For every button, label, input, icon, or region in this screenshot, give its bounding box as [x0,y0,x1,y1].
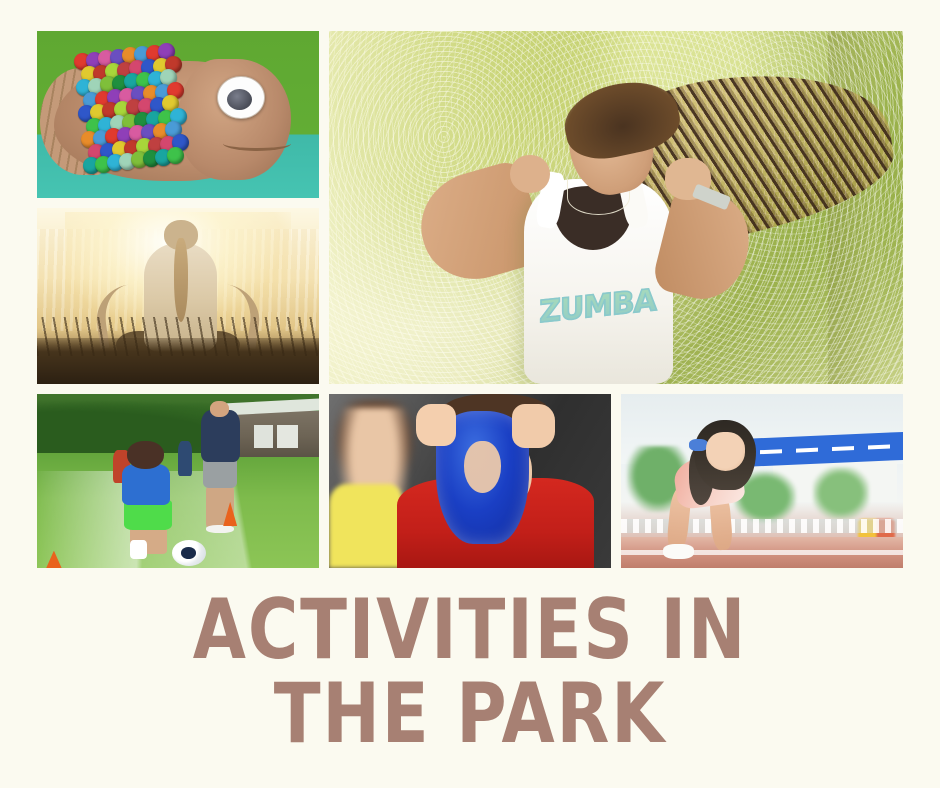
boy-left-hand [416,404,455,446]
player-jersey [122,464,170,506]
soccer-art [37,394,319,568]
coach-jacket [201,410,240,462]
meditation-art [37,208,319,384]
tall-grass [37,317,319,356]
poster: ZUMBA [0,0,940,788]
title-line-2: THE PARK [38,672,903,756]
coach-head [210,401,228,417]
girl-yellow-shirt [329,484,402,568]
dancer-left-fist [510,155,550,194]
child-in-blue-background [178,441,192,476]
player-head [127,441,164,469]
photo-meditation [37,208,319,384]
fish-craft-art [37,31,319,198]
title-line-1: ACTIVITIES IN [38,588,903,672]
slime-art [329,394,611,568]
poster-title: ACTIVITIES IN THE PARK [0,588,940,756]
runner-head [706,432,745,470]
player-sock [130,540,147,559]
track-fence [621,519,903,533]
photo-dancing: ZUMBA [329,31,903,384]
photo-soccer [37,394,319,568]
slime-hole [464,441,501,493]
meditator-braid [174,238,188,322]
running-art [621,394,903,568]
dancing-art: ZUMBA [329,31,903,384]
shed-door-right [277,425,298,449]
fish-sequins [74,51,232,185]
tree-right [813,467,869,519]
shed-door-left [254,425,273,449]
runner-shoe [663,544,694,560]
photo-slime [329,394,611,568]
zumba-shirt-text: ZUMBA [539,286,659,362]
photo-fish-craft [37,31,319,198]
boy-right-hand [512,404,554,448]
photo-running [621,394,903,568]
photo-collage: ZUMBA [37,31,903,568]
